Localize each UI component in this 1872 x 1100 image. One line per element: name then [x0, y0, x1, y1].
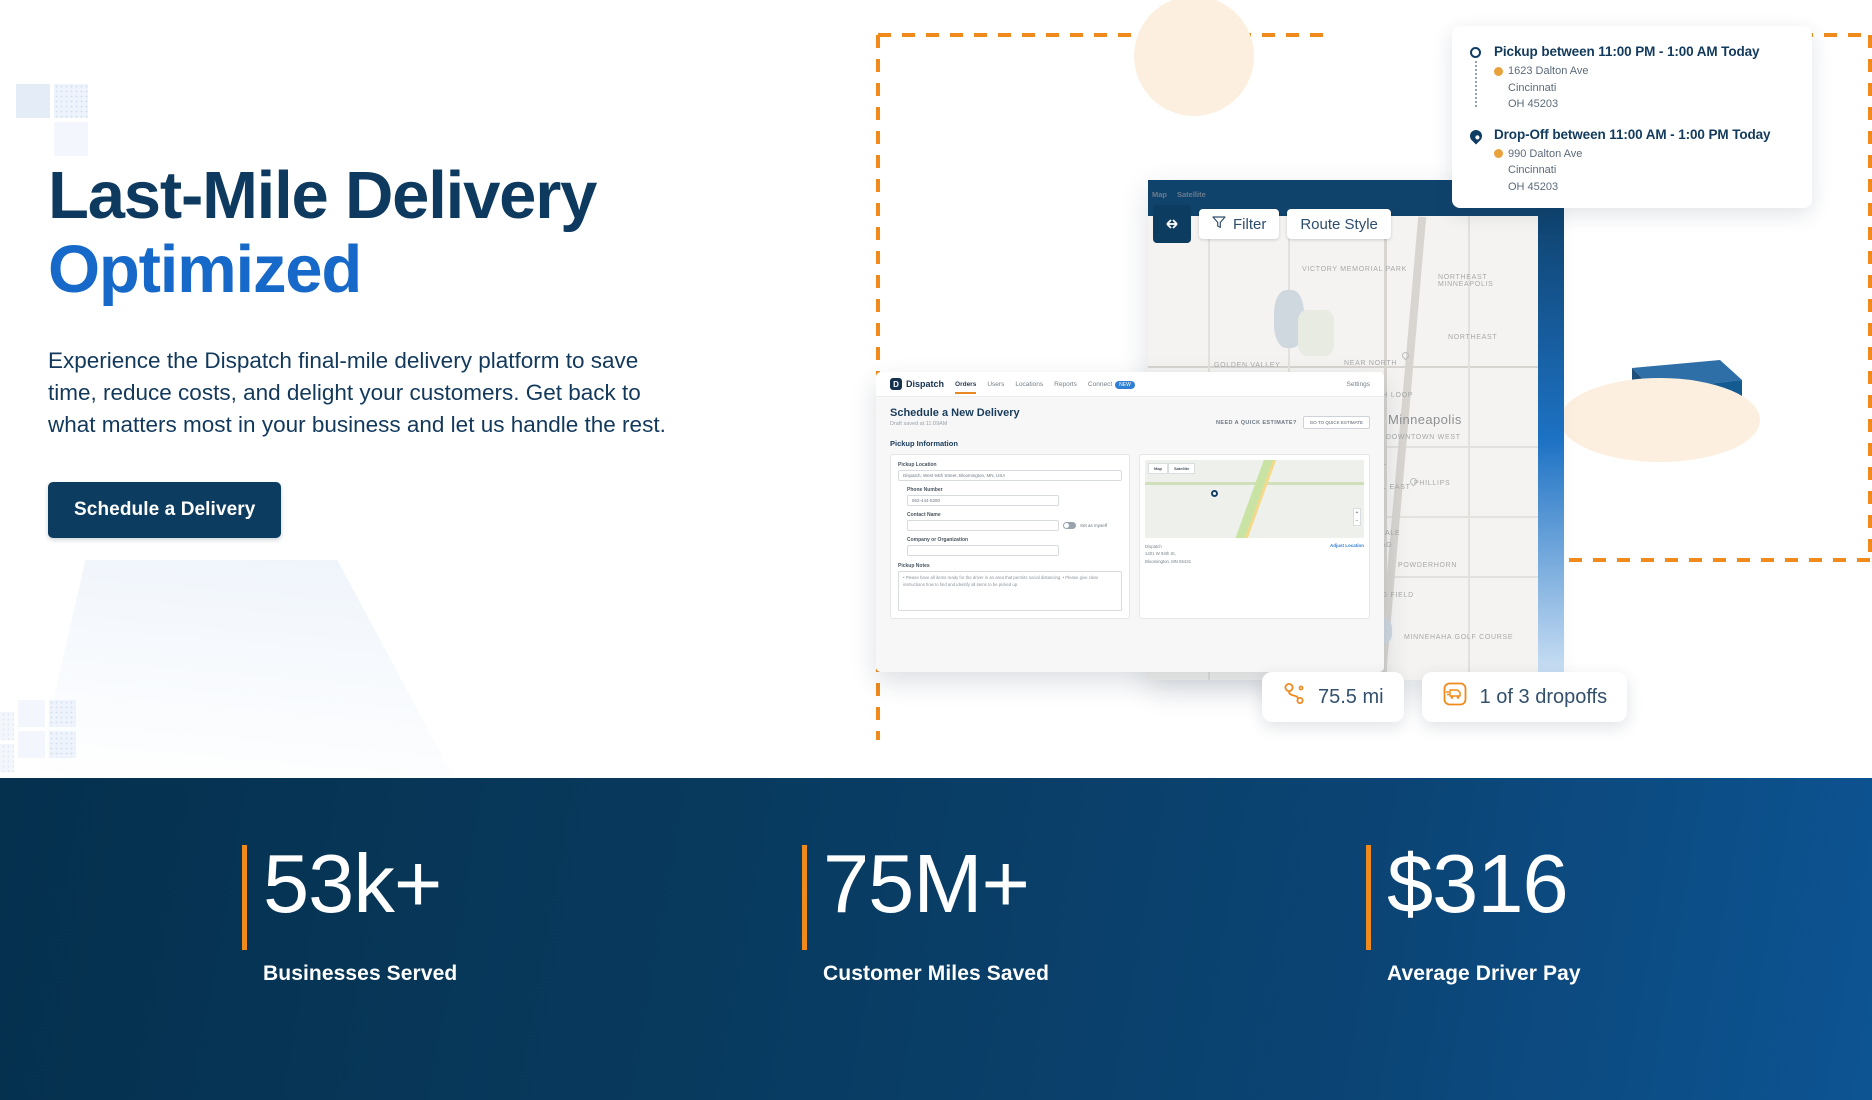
hero-paragraph: Experience the Dispatch final-mile deliv… — [48, 345, 688, 441]
map-area-label: PHILLIPS — [1414, 480, 1450, 487]
pickup-city: Cincinnati — [1508, 80, 1794, 97]
route-style-button[interactable]: Route Style — [1287, 209, 1391, 239]
dispatch-logo-icon: D Dispatch — [890, 378, 944, 390]
route-style-label: Route Style — [1300, 216, 1378, 233]
pickup-dropoff-card: Pickup between 11:00 PM - 1:00 AM Today … — [1452, 26, 1812, 208]
zoom-in-button[interactable]: + — [1354, 509, 1360, 517]
pickup-address: 1623 Dalton Ave — [1508, 63, 1589, 80]
pickup-marker — [1470, 44, 1484, 113]
hero-copy: Last-Mile Delivery Optimized Experience … — [48, 162, 838, 538]
map-view-option-satellite[interactable]: Satellite — [1177, 190, 1206, 199]
stat-customer-miles-saved: 75M+ Customer Miles Saved — [802, 845, 1049, 986]
decorative-squares-edge — [0, 712, 46, 778]
metric-chips: 75.5 mi 1 of 3 dropoffs — [1262, 672, 1627, 722]
dropoffs-chip: 1 of 3 dropoffs — [1422, 672, 1628, 722]
page-title: Last-Mile Delivery Optimized — [48, 162, 838, 305]
map-area-label: Golden Valley — [1214, 362, 1281, 369]
map-satellite-toggle[interactable]: Map Satellite — [1148, 463, 1195, 474]
map-view-toggle[interactable]: Map Satellite — [1152, 190, 1206, 199]
new-badge: NEW — [1115, 381, 1135, 389]
dropoff-state-zip: OH 45203 — [1508, 179, 1794, 196]
filter-button[interactable]: Filter — [1199, 209, 1279, 239]
contact-name-label: Contact Name — [907, 512, 1122, 518]
package-illustration — [1128, 0, 1288, 126]
map-area-label: Victory Memorial Park — [1302, 266, 1407, 273]
dropoff-address: 990 Dalton Ave — [1508, 146, 1582, 163]
phone-number-input[interactable]: 952-444-5280 — [907, 495, 1059, 506]
dropoff-window: Drop-Off between 11:00 AM - 1:00 PM Toda… — [1494, 127, 1794, 142]
map-area-label: NORTHEASTMINNEAPOLIS — [1438, 274, 1494, 288]
stat-businesses-served: 53k+ Businesses Served — [242, 845, 457, 986]
dropoff-leg: Drop-Off between 11:00 AM - 1:00 PM Toda… — [1470, 127, 1794, 196]
stat-value: 75M+ — [823, 845, 1049, 924]
company-label: Company or Organization — [907, 537, 1122, 543]
map-address-line-1: Dispatch — [1145, 543, 1191, 550]
contact-name-input[interactable] — [907, 520, 1059, 531]
location-marker-icon — [1211, 490, 1218, 497]
schedule-delivery-screenshot[interactable]: D Dispatch Orders Users Locations Report… — [876, 372, 1384, 672]
map-area-label: POWDERHORN — [1398, 562, 1457, 569]
location-map-panel: Map Satellite + − Dispatch 1401 W — [1139, 454, 1370, 619]
stat-average-driver-pay: $316 Average Driver Pay — [1366, 845, 1581, 986]
map-toolbar: Filter Route Style — [1153, 205, 1391, 243]
adjust-location-link[interactable]: Adjust Location — [1330, 543, 1364, 565]
schedule-a-delivery-button[interactable]: Schedule a Delivery — [48, 482, 281, 538]
pickup-notes-textarea[interactable]: • Please have all items ready for the dr… — [898, 571, 1122, 611]
nav-item-connect[interactable]: ConnectNEW — [1088, 381, 1135, 388]
distance-chip: 75.5 mi — [1262, 672, 1404, 722]
headline-line-1: Last-Mile Delivery — [48, 158, 596, 233]
company-input[interactable] — [907, 545, 1059, 556]
pickup-state-zip: OH 45203 — [1508, 96, 1794, 113]
location-badge-icon — [1494, 149, 1503, 158]
nav-item-locations[interactable]: Locations — [1015, 381, 1043, 388]
pickup-information-heading: Pickup Information — [890, 439, 1370, 448]
brand-name: Dispatch — [906, 379, 944, 389]
map-area-label: Minnehaha Golf Course — [1404, 634, 1513, 641]
filter-label: Filter — [1233, 216, 1266, 233]
app-navbar: D Dispatch Orders Users Locations Report… — [876, 372, 1384, 397]
stat-label: Customer Miles Saved — [823, 962, 1049, 986]
map-zoom-controls[interactable]: + − — [1353, 508, 1361, 526]
van-icon — [1442, 681, 1468, 713]
distance-label: 75.5 mi — [1318, 686, 1384, 709]
set-as-myself-label: Set as myself — [1080, 523, 1107, 528]
nav-item-users[interactable]: Users — [987, 381, 1004, 388]
settings-menu[interactable]: Settings — [1347, 381, 1371, 388]
satellite-option[interactable]: Satellite — [1168, 463, 1195, 474]
stat-value: 53k+ — [263, 845, 457, 924]
zoom-out-button[interactable]: − — [1354, 517, 1360, 525]
map-area-label: NORTHEAST — [1448, 334, 1497, 341]
stat-value: $316 — [1387, 845, 1581, 924]
dropoffs-label: 1 of 3 dropoffs — [1480, 686, 1608, 709]
map-area-label: NEAR NORTH — [1344, 360, 1397, 367]
location-badge-icon — [1494, 67, 1503, 76]
pickup-leg: Pickup between 11:00 PM - 1:00 AM Today … — [1470, 44, 1794, 113]
quick-estimate-row: NEED A QUICK ESTIMATE? GO TO QUICK ESTIM… — [1216, 416, 1370, 429]
stat-accent-bar — [242, 845, 247, 950]
stat-label: Businesses Served — [263, 962, 457, 986]
route-dotted-line — [1475, 61, 1477, 107]
pickup-window: Pickup between 11:00 PM - 1:00 AM Today — [1494, 44, 1794, 59]
nav-item-reports[interactable]: Reports — [1054, 381, 1077, 388]
stat-accent-bar — [802, 845, 807, 950]
pickup-location-label: Pickup Location — [898, 462, 1122, 468]
set-as-myself-toggle[interactable] — [1063, 522, 1076, 529]
route-icon — [1282, 682, 1306, 712]
map-address-line-2: 1401 W 94th St, — [1145, 550, 1191, 557]
pickup-location-input[interactable]: Dispatch, West 94th Street, Bloomington,… — [898, 470, 1122, 481]
map-option[interactable]: Map — [1148, 463, 1168, 474]
pickup-form-panel: Pickup Location Dispatch, West 94th Stre… — [890, 454, 1130, 619]
location-map[interactable]: Map Satellite + − — [1145, 460, 1364, 538]
map-city-label: Minneapolis — [1388, 412, 1462, 427]
quick-estimate-prompt: NEED A QUICK ESTIMATE? — [1216, 420, 1297, 426]
stat-accent-bar — [1366, 845, 1371, 950]
filter-icon — [1212, 215, 1226, 233]
expand-arrows-icon[interactable] — [1153, 205, 1191, 243]
stat-label: Average Driver Pay — [1387, 962, 1581, 986]
hero-section: Last-Mile Delivery Optimized Experience … — [0, 0, 1872, 778]
headline-line-2: Optimized — [48, 236, 838, 304]
nav-item-orders[interactable]: Orders — [955, 381, 976, 388]
map-address-line-3: Bloomington, MN 55431 — [1145, 558, 1191, 565]
pickup-notes-label: Pickup Notes — [898, 563, 1122, 569]
dropoff-city: Cincinnati — [1508, 162, 1794, 179]
phone-number-label: Phone Number — [907, 487, 1122, 493]
landing-page: Last-Mile Delivery Optimized Experience … — [0, 0, 1872, 1100]
go-to-quick-estimate-button[interactable]: GO TO QUICK ESTIMATE — [1303, 416, 1370, 429]
delivery-truck-illustration — [1560, 340, 1780, 490]
map-view-option-map[interactable]: Map — [1152, 190, 1167, 199]
map-area-label: DOWNTOWN WEST — [1386, 434, 1461, 441]
map-pin-icon — [1468, 127, 1485, 144]
map-edge-gradient — [1538, 180, 1564, 680]
circle-marker-icon — [1470, 47, 1481, 58]
form-body: Schedule a New Delivery Draft saved at 1… — [876, 397, 1384, 672]
dropoff-marker — [1470, 127, 1484, 196]
